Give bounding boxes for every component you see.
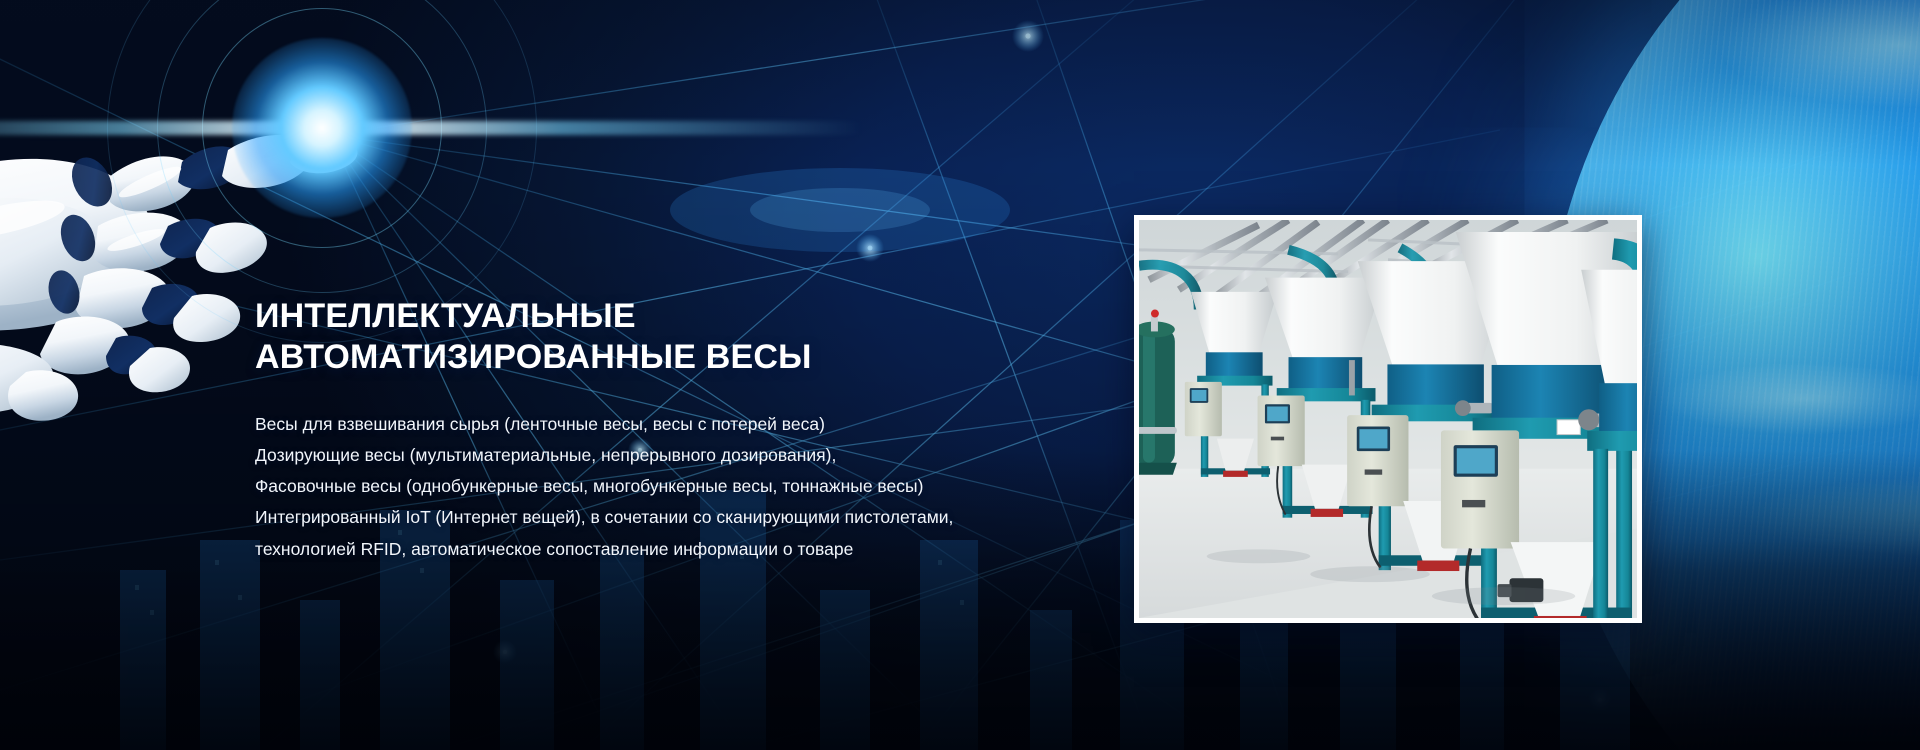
product-photo [1134, 215, 1642, 623]
burst-horizontal-streak [0, 121, 862, 135]
description-list: Весы для взвешивания сырья (ленточные ве… [255, 409, 955, 565]
burst-core [232, 38, 412, 218]
description-line: технологией RFID, автоматическое сопоста… [255, 534, 955, 565]
description-line: Интегрированный IoT (Интернет вещей), в … [255, 502, 955, 533]
hero-banner: ИНТЕЛЛЕКТУАЛЬНЫЕ АВТОМАТИЗИРОВАННЫЕ ВЕСЫ… [0, 0, 1920, 750]
description-line: Дозирующие весы (мультиматериальные, неп… [255, 440, 955, 471]
page-title: ИНТЕЛЛЕКТУАЛЬНЫЕ АВТОМАТИЗИРОВАННЫЕ ВЕСЫ [255, 296, 955, 379]
description-line: Фасовочные весы (однобункерные весы, мно… [255, 471, 955, 502]
description-line: Весы для взвешивания сырья (ленточные ве… [255, 409, 955, 440]
hero-copy: ИНТЕЛЛЕКТУАЛЬНЫЕ АВТОМАТИЗИРОВАННЫЕ ВЕСЫ… [255, 296, 955, 565]
